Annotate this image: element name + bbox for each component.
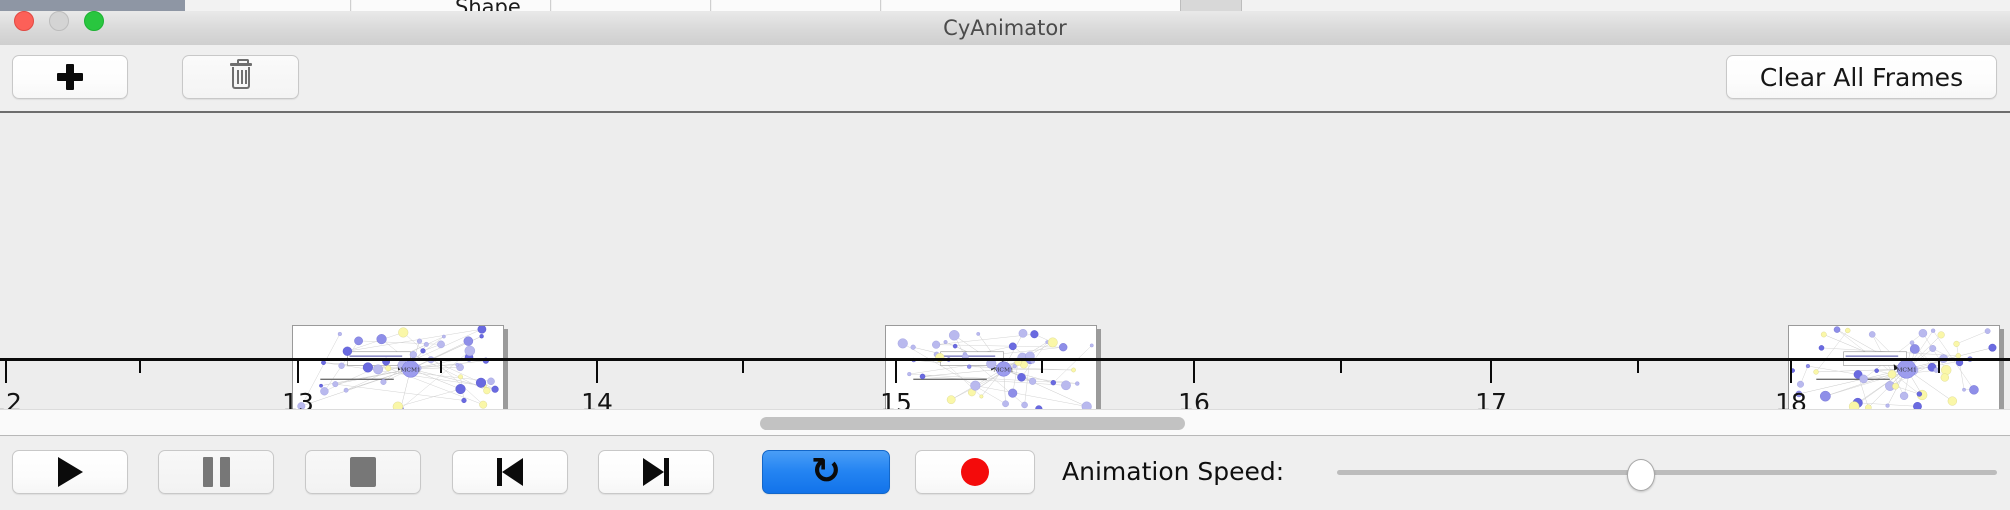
- ruler-tick-minor: [1041, 361, 1043, 373]
- background-segment: [712, 0, 881, 11]
- ruler-tick-label: 15: [880, 388, 912, 409]
- background-segment: [240, 0, 351, 11]
- frame-toolbar: Clear All Frames: [0, 45, 2010, 113]
- svg-text:MCM1: MCM1: [400, 367, 420, 373]
- stop-button[interactable]: [305, 450, 421, 494]
- timeline-panel[interactable]: MCM1 MCM1 MCM1 12131415161718 Seconds: [0, 113, 2010, 409]
- frame-thumbnail: MCM1: [293, 326, 503, 409]
- record-button[interactable]: [915, 450, 1035, 494]
- ruler-tick-label: 16: [1178, 388, 1210, 409]
- loop-icon: ↻: [811, 454, 841, 490]
- transport-bar: ↻ Animation Speed:: [0, 437, 2010, 510]
- play-button[interactable]: [12, 450, 128, 494]
- animation-speed-slider[interactable]: [1337, 450, 1997, 494]
- maximize-button[interactable]: [84, 11, 104, 31]
- ruler-tick-major: [895, 361, 897, 383]
- skip-forward-icon: [641, 457, 671, 487]
- ruler-tick-label: 17: [1475, 388, 1507, 409]
- ruler-tick-major: [1193, 361, 1195, 383]
- slider-track: [1337, 470, 1997, 475]
- ruler-tick-minor: [1938, 361, 1940, 373]
- svg-text:MCM1: MCM1: [1896, 367, 1916, 373]
- slider-knob[interactable]: [1627, 459, 1655, 491]
- window-title-bar: CyAnimator: [0, 11, 2010, 46]
- background-grabber: [1180, 0, 1242, 11]
- cyanimator-window: Shape CyAnimator Clear All Frames MCM1: [0, 0, 2010, 510]
- last-frame-button[interactable]: [598, 450, 714, 494]
- ruler-axis-line: [0, 358, 2010, 361]
- clear-all-frames-button[interactable]: Clear All Frames: [1726, 55, 1997, 99]
- ruler-tick-label: 14: [581, 388, 613, 409]
- svg-text:MCM1: MCM1: [993, 367, 1013, 373]
- background-segment: [352, 0, 471, 11]
- timeline-frame[interactable]: MCM1: [885, 325, 1097, 409]
- page-title: CyAnimator: [0, 11, 2010, 45]
- ruler-tick-major: [1790, 361, 1792, 383]
- traffic-light-group: [14, 11, 104, 31]
- timeline-frame[interactable]: MCM1: [1788, 325, 2000, 409]
- ruler-tick-minor: [139, 361, 141, 373]
- ruler-tick-major: [596, 361, 598, 383]
- timeline-scrollbar[interactable]: [0, 409, 2010, 436]
- background-app-label: Shape: [455, 0, 521, 11]
- ruler-tick-minor: [1340, 361, 1342, 373]
- frame-thumbnail: MCM1: [1789, 326, 1999, 409]
- plus-icon: [57, 64, 83, 90]
- ruler-tick-minor: [1637, 361, 1639, 373]
- add-frame-button[interactable]: [12, 55, 128, 99]
- first-frame-button[interactable]: [452, 450, 568, 494]
- play-icon: [58, 457, 83, 487]
- background-segment: [552, 0, 711, 11]
- frame-thumbnail: MCM1: [886, 326, 1096, 409]
- delete-frame-button[interactable]: [182, 55, 299, 99]
- record-icon: [961, 458, 989, 486]
- ruler-tick-major: [297, 361, 299, 383]
- background-segment: [882, 0, 1181, 11]
- background-dark-panel: [0, 0, 185, 11]
- ruler-tick-major: [5, 361, 7, 383]
- skip-back-icon: [495, 457, 525, 487]
- timeline-frame[interactable]: MCM1: [292, 325, 504, 409]
- close-button[interactable]: [14, 11, 34, 31]
- pause-icon: [203, 457, 230, 487]
- minimize-button[interactable]: [49, 11, 69, 31]
- scrollbar-thumb[interactable]: [760, 417, 1185, 430]
- ruler-tick-label: 18: [1775, 388, 1807, 409]
- pause-button[interactable]: [158, 450, 274, 494]
- ruler-tick-label: 12: [0, 388, 22, 409]
- ruler-tick-label: 13: [282, 388, 314, 409]
- animation-speed-label: Animation Speed:: [1062, 450, 1284, 494]
- ruler-tick-major: [1490, 361, 1492, 383]
- background-app-strip: Shape: [0, 0, 2010, 11]
- trash-icon: [230, 63, 252, 91]
- stop-icon: [350, 457, 376, 487]
- ruler-tick-minor: [742, 361, 744, 373]
- ruler-tick-minor: [440, 361, 442, 373]
- timeline-ruler: 12131415161718 Seconds: [0, 358, 2010, 359]
- loop-button[interactable]: ↻: [762, 450, 890, 494]
